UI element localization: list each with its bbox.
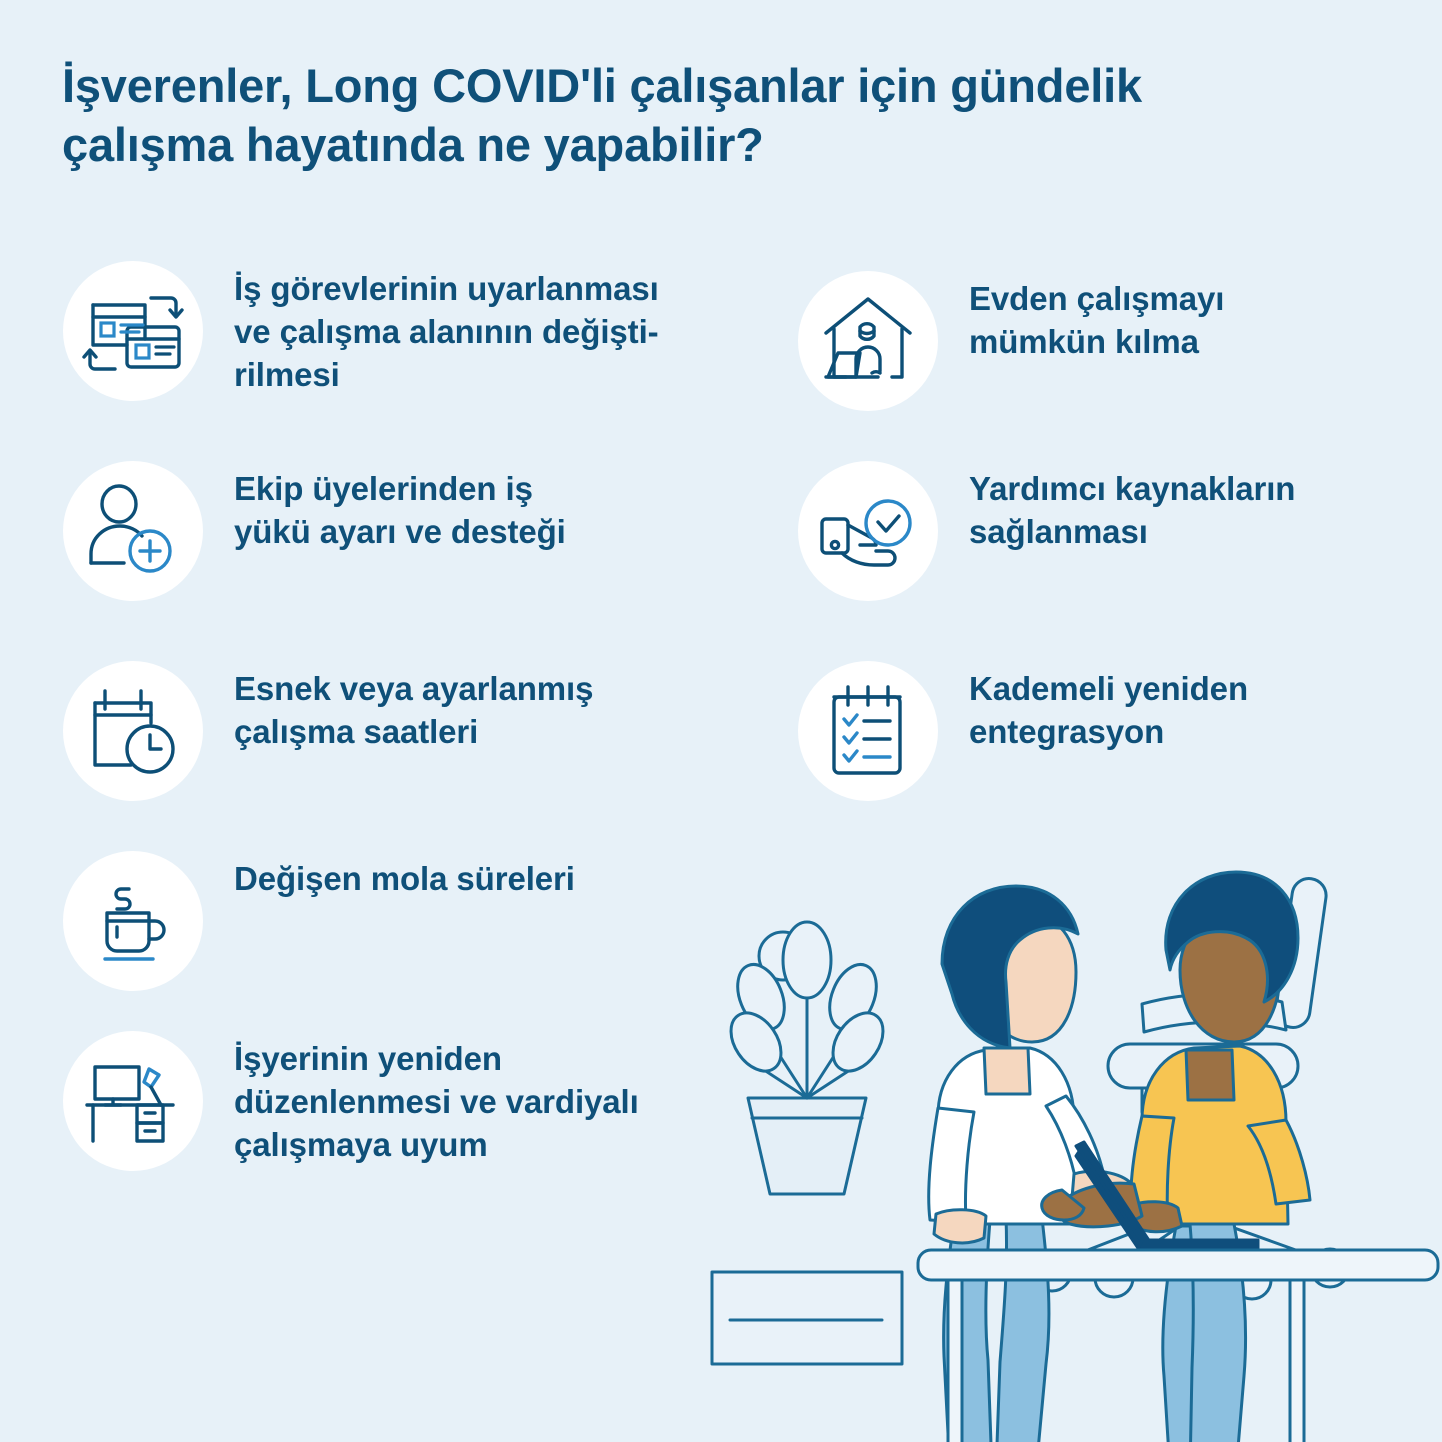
list-item: Esnek veya ayarlanmış çalışma saatleri [60,658,760,848]
potted-plant [748,1098,866,1194]
list-item-label: İş görevlerinin uyarlanması ve çalışma a… [234,258,659,397]
two-people-handshake-standing-desk-scene [690,820,1442,1442]
label-line: sağlanması [969,511,1295,554]
cabinet [712,1272,902,1364]
list-item: Değişen mola süreleri [60,848,760,1028]
plant-leaves [721,922,894,1098]
list-item-label: İşyerinin yeniden düzenlenmesi ve vardiy… [234,1028,639,1167]
label-line: entegrasyon [969,711,1248,754]
label-line: rilmesi [234,354,659,397]
label-line: Değişen mola süreleri [234,858,575,901]
left-column: İş görevlerinin uyarlanması ve çalışma a… [60,258,760,1228]
list-item-label: Esnek veya ayarlanmış çalışma saatleri [234,658,593,754]
home-office-icon [795,268,941,414]
label-line: mümkün kılma [969,321,1224,364]
list-item: Yardımcı kaynakların sağlanması [795,458,1415,658]
label-line: düzenlenmesi ve vardiyalı [234,1081,639,1124]
window-exchange-icon [60,258,206,404]
infographic-page: İşverenler, Long COVID'li çalışanlar içi… [0,0,1442,1442]
page-title: İşverenler, Long COVID'li çalışanlar içi… [62,56,1182,174]
list-item-label: Yardımcı kaynakların sağlanması [969,458,1295,554]
label-line: çalışma saatleri [234,711,593,754]
list-item-label: Evden çalışmayı mümkün kılma [969,268,1224,364]
label-line: yükü ayarı ve desteği [234,511,566,554]
hand-check-icon [795,458,941,604]
label-line: Ekip üyelerinden iş [234,468,566,511]
right-column: Evden çalışmayı mümkün kılma [795,268,1415,848]
label-line: Kademeli yeniden [969,668,1248,711]
list-item: Ekip üyelerinden iş yükü ayarı ve desteğ… [60,458,760,658]
list-item: Evden çalışmayı mümkün kılma [795,268,1415,458]
list-item-label: Kademeli yeniden entegrasyon [969,658,1248,754]
label-line: İş görevlerinin uyarlanması [234,268,659,311]
label-line: Esnek veya ayarlanmış [234,668,593,711]
coffee-cup-icon [60,848,206,994]
list-item-label: Değişen mola süreleri [234,848,575,901]
label-line: Yardımcı kaynakların [969,468,1295,511]
label-line: İşyerinin yeniden [234,1038,639,1081]
calendar-clock-icon [60,658,206,804]
label-line: Evden çalışmayı [969,278,1224,321]
list-item: İş görevlerinin uyarlanması ve çalışma a… [60,258,760,458]
title-line-1: İşverenler, Long COVID'li çalışanlar içi… [62,59,937,112]
desk-lamp-icon [60,1028,206,1174]
person-add-icon [60,458,206,604]
list-item: İşyerinin yeniden düzenlenmesi ve vardiy… [60,1028,760,1228]
list-item-label: Ekip üyelerinden iş yükü ayarı ve desteğ… [234,458,566,554]
clipboard-checklist-icon [795,658,941,804]
label-line: çalışmaya uyum [234,1124,639,1167]
label-line: ve çalışma alanının değişti- [234,311,659,354]
